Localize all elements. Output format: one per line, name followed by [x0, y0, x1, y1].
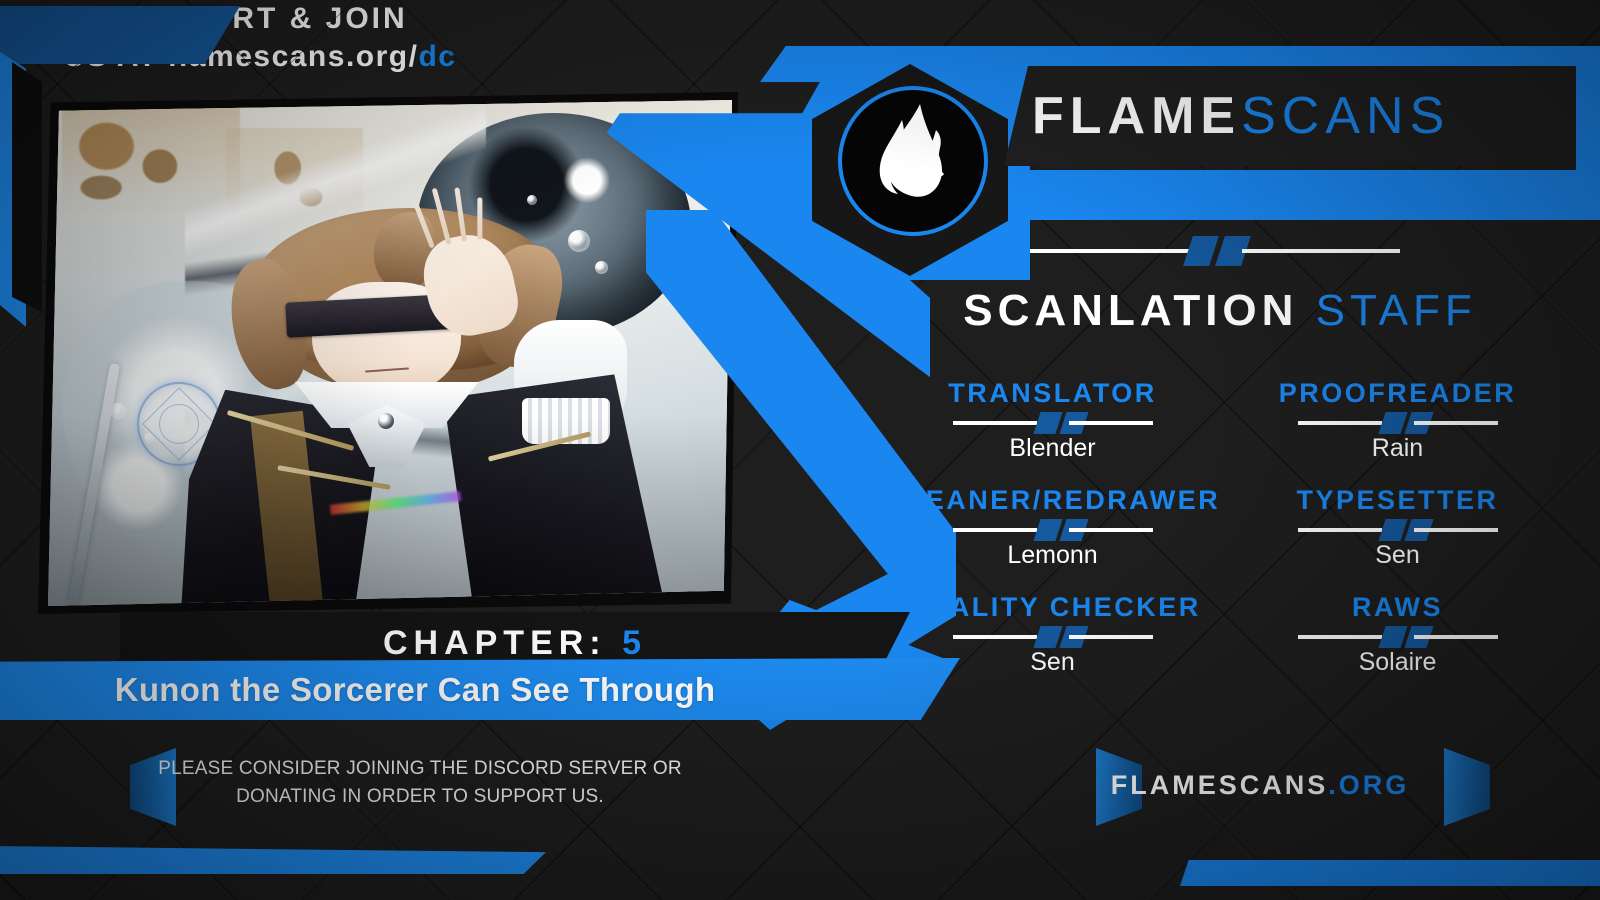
staff-role-label: PROOFREADER	[1225, 378, 1570, 409]
footer-site-url[interactable]: FLAMESCANS.ORG	[1000, 770, 1520, 801]
rule-line-left	[1298, 635, 1382, 639]
rule-line-right	[1414, 421, 1498, 425]
staff-member-name: Sen	[1225, 541, 1570, 570]
divider-slab	[1183, 236, 1219, 266]
footer-site-name: FLAMESCANS	[1111, 770, 1329, 800]
staff-rule	[953, 630, 1153, 644]
staff-entry-proofreader: PROOFREADER Rain	[1225, 378, 1570, 463]
rule-line-right	[1069, 421, 1153, 425]
top-left-accent-bar	[0, 6, 240, 64]
staff-role-label: CLEANER/REDRAWER	[880, 485, 1225, 516]
staff-entry-translator: TRANSLATOR Blender	[880, 378, 1225, 463]
staff-role-label: RAWS	[1225, 592, 1570, 623]
brand-plate: FLAMESCANS	[1004, 66, 1600, 166]
series-title: Kunon the Sorcerer Can See Through	[0, 663, 830, 717]
staff-member-name: Solaire	[1225, 648, 1570, 677]
rule-line-left	[953, 421, 1037, 425]
staff-role-label: TRANSLATOR	[880, 378, 1225, 409]
staff-rule	[1298, 523, 1498, 537]
staff-member-name: Lemonn	[880, 541, 1225, 570]
staff-role-label: TYPESETTER	[1225, 485, 1570, 516]
staff-rule	[953, 523, 1153, 537]
rule-line-right	[1069, 528, 1153, 532]
staff-role-label: QUALITY CHECKER	[880, 592, 1225, 623]
brand-wordmark: FLAMESCANS	[1032, 86, 1450, 146]
rule-line-left	[953, 528, 1037, 532]
staff-rule	[1298, 630, 1498, 644]
rule-slab	[1378, 519, 1407, 541]
brand-name-secondary: SCANS	[1241, 87, 1450, 145]
rule-slab	[1378, 626, 1407, 648]
staff-member-name: Rain	[1225, 434, 1570, 463]
support-note-line-1: PLEASE CONSIDER JOINING THE DISCORD SERV…	[150, 755, 690, 783]
rule-line-right	[1414, 635, 1498, 639]
support-url-highlight: dc	[418, 40, 456, 73]
section-title-primary: SCANLATION	[963, 286, 1298, 335]
staff-rule	[953, 416, 1153, 430]
staff-entry-typesetter: TYPESETTER Sen	[1225, 485, 1570, 570]
section-divider	[1030, 243, 1400, 259]
rule-slab	[1378, 412, 1407, 434]
left-edge-shadow	[12, 62, 42, 312]
divider-line-left	[1030, 249, 1190, 253]
rule-line-left	[1298, 528, 1382, 532]
staff-entry-raws: RAWS Solaire	[1225, 592, 1570, 677]
rule-slab	[1033, 626, 1062, 648]
footer-site-tld: .ORG	[1328, 770, 1409, 800]
divider-line-right	[1242, 249, 1400, 253]
support-note-line-2: DONATING IN ORDER TO SUPPORT US.	[150, 783, 690, 811]
section-title-secondary: STAFF	[1316, 286, 1477, 335]
chapter-label: CHAPTER:	[383, 624, 607, 662]
staff-member-name: Blender	[880, 434, 1225, 463]
staff-rule	[1298, 416, 1498, 430]
chapter-heading: CHAPTER: 5	[383, 624, 647, 663]
art-shading	[48, 98, 732, 606]
bottom-left-accent-bar	[0, 846, 546, 874]
rule-line-left	[1298, 421, 1382, 425]
rule-slab	[1033, 519, 1062, 541]
staff-entry-cleaner-redrawer: CLEANER/REDRAWER Lemonn	[880, 485, 1225, 570]
rule-line-right	[1069, 635, 1153, 639]
brand-name-primary: FLAME	[1032, 87, 1241, 145]
staff-list: TRANSLATOR Blender PROOFREADER Rain CLEA…	[880, 378, 1570, 677]
section-title: SCANLATION STAFF	[880, 286, 1560, 350]
bottom-right-accent-bar	[1180, 860, 1600, 886]
rule-line-left	[953, 635, 1037, 639]
credits-page: SUPPORT & JOIN US AT flamescans.org/dc	[0, 0, 1600, 900]
rule-slab	[1033, 412, 1062, 434]
flame-icon	[858, 100, 968, 224]
chapter-number: 5	[622, 624, 647, 662]
rule-line-right	[1414, 528, 1498, 532]
support-note: PLEASE CONSIDER JOINING THE DISCORD SERV…	[150, 755, 690, 810]
right-edge-accent	[1576, 60, 1600, 220]
cover-art	[48, 98, 732, 606]
